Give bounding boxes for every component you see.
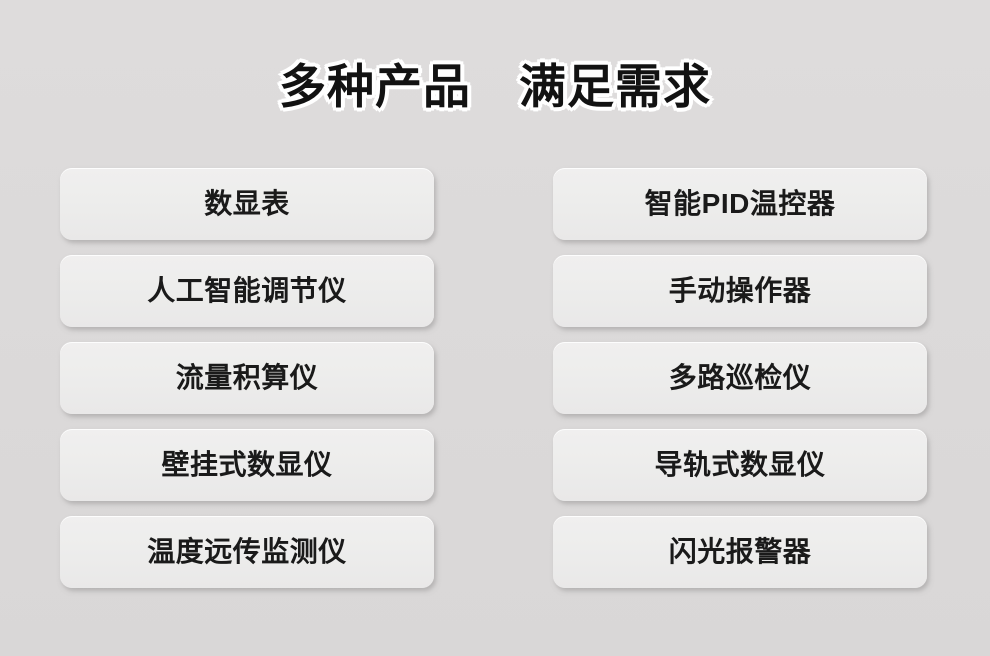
product-card-manual-operator[interactable]: 手动操作器 [553, 255, 927, 327]
product-card-label: 智能PID温控器 [645, 190, 836, 218]
product-card-flash-alarm[interactable]: 闪光报警器 [553, 516, 927, 588]
product-card-wall-mounted-display[interactable]: 壁挂式数显仪 [60, 429, 434, 501]
title-container: 多种产品 满足需求 [0, 58, 990, 128]
product-card-remote-temp-monitor[interactable]: 温度远传监测仪 [60, 516, 434, 588]
product-card-label: 流量积算仪 [176, 364, 319, 392]
product-card-flow-totalizer[interactable]: 流量积算仪 [60, 342, 434, 414]
product-card-label: 人工智能调节仪 [147, 277, 347, 305]
product-card-shuxianbiao[interactable]: 数显表 [60, 168, 434, 240]
product-card-label: 多路巡检仪 [669, 364, 812, 392]
product-card-label: 数显表 [204, 190, 290, 218]
product-card-label: 温度远传监测仪 [147, 538, 347, 566]
product-card-din-rail-display[interactable]: 导轨式数显仪 [553, 429, 927, 501]
product-card-label: 壁挂式数显仪 [161, 451, 332, 479]
product-card-grid: 数显表 智能PID温控器 人工智能调节仪 手动操作器 流量积算仪 多路巡检仪 壁… [60, 168, 920, 588]
product-poster: 多种产品 满足需求 数显表 智能PID温控器 人工智能调节仪 手动操作器 流量积… [0, 0, 990, 656]
product-card-multi-channel-inspector[interactable]: 多路巡检仪 [553, 342, 927, 414]
page-title: 多种产品 满足需求 [279, 58, 711, 115]
product-card-pid-temp-controller[interactable]: 智能PID温控器 [553, 168, 927, 240]
product-card-label: 手动操作器 [669, 277, 812, 305]
product-card-label: 闪光报警器 [669, 538, 812, 566]
product-card-label: 导轨式数显仪 [654, 451, 825, 479]
product-card-ai-regulator[interactable]: 人工智能调节仪 [60, 255, 434, 327]
